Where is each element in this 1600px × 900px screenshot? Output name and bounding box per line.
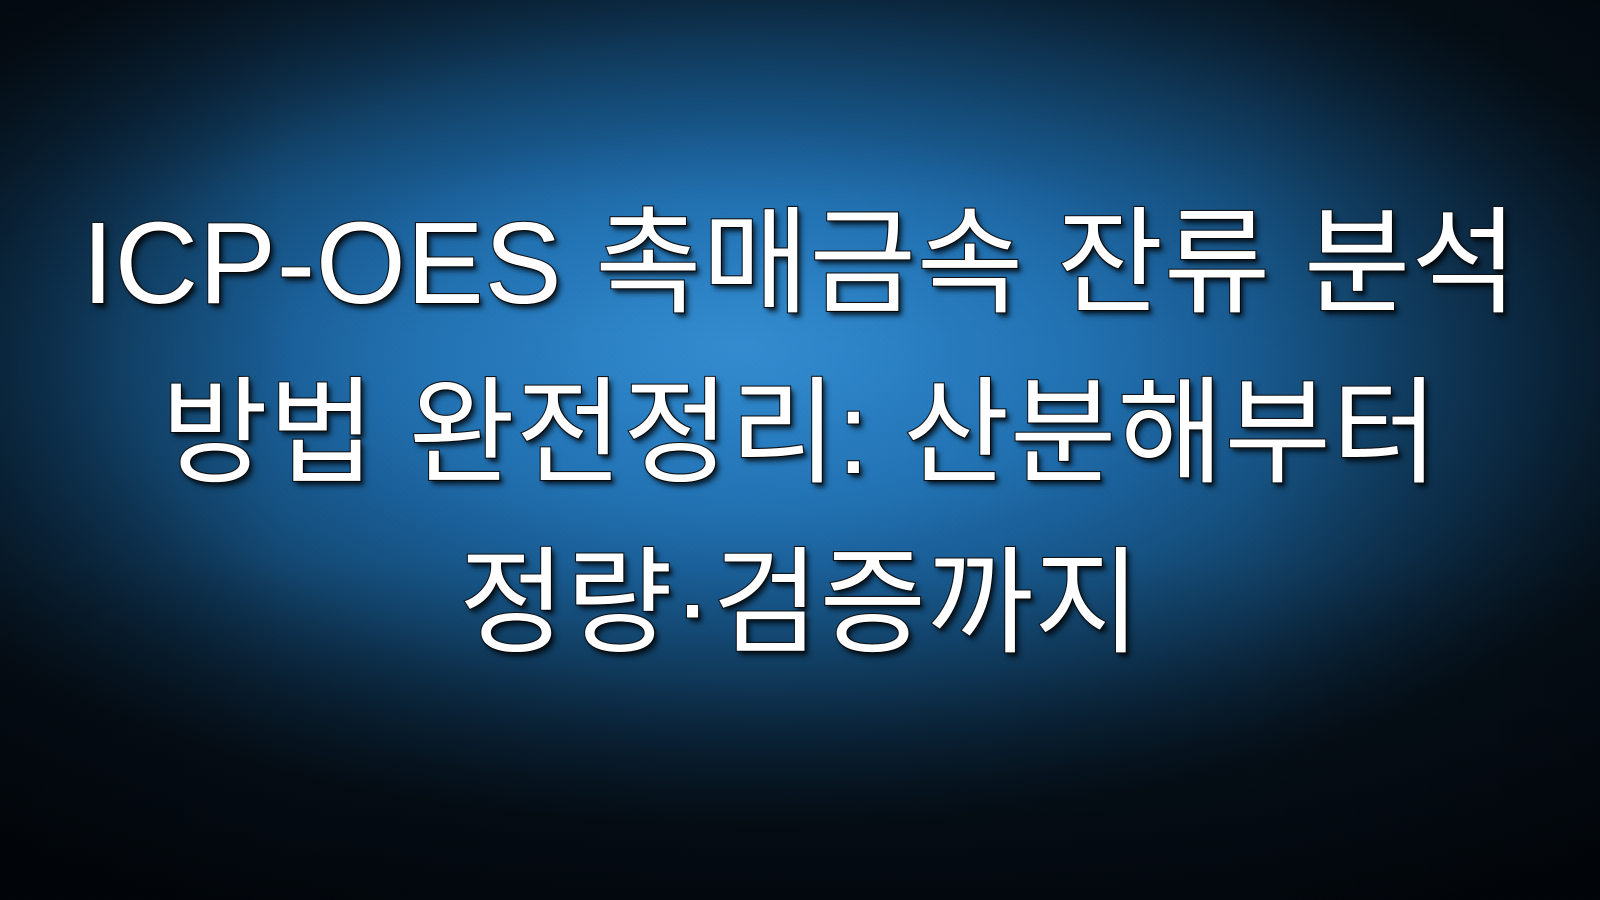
title-line-2: 방법 완전정리: 산분해부터 — [0, 348, 1600, 518]
title-line-1-text: ICP-OES 촉매금속 잔류 분석 — [82, 178, 1518, 348]
title-line-2-text: 방법 완전정리: 산분해부터 — [161, 348, 1439, 518]
title-slide: ICP-OES 촉매금속 잔류 분석 방법 완전정리: 산분해부터 정량·검증까… — [0, 0, 1600, 900]
title-line-3: 정량·검증까지 — [0, 518, 1600, 688]
slide-title: ICP-OES 촉매금속 잔류 분석 방법 완전정리: 산분해부터 정량·검증까… — [0, 178, 1600, 688]
title-line-1: ICP-OES 촉매금속 잔류 분석 — [0, 178, 1600, 348]
title-line-3-text: 정량·검증까지 — [459, 518, 1141, 688]
